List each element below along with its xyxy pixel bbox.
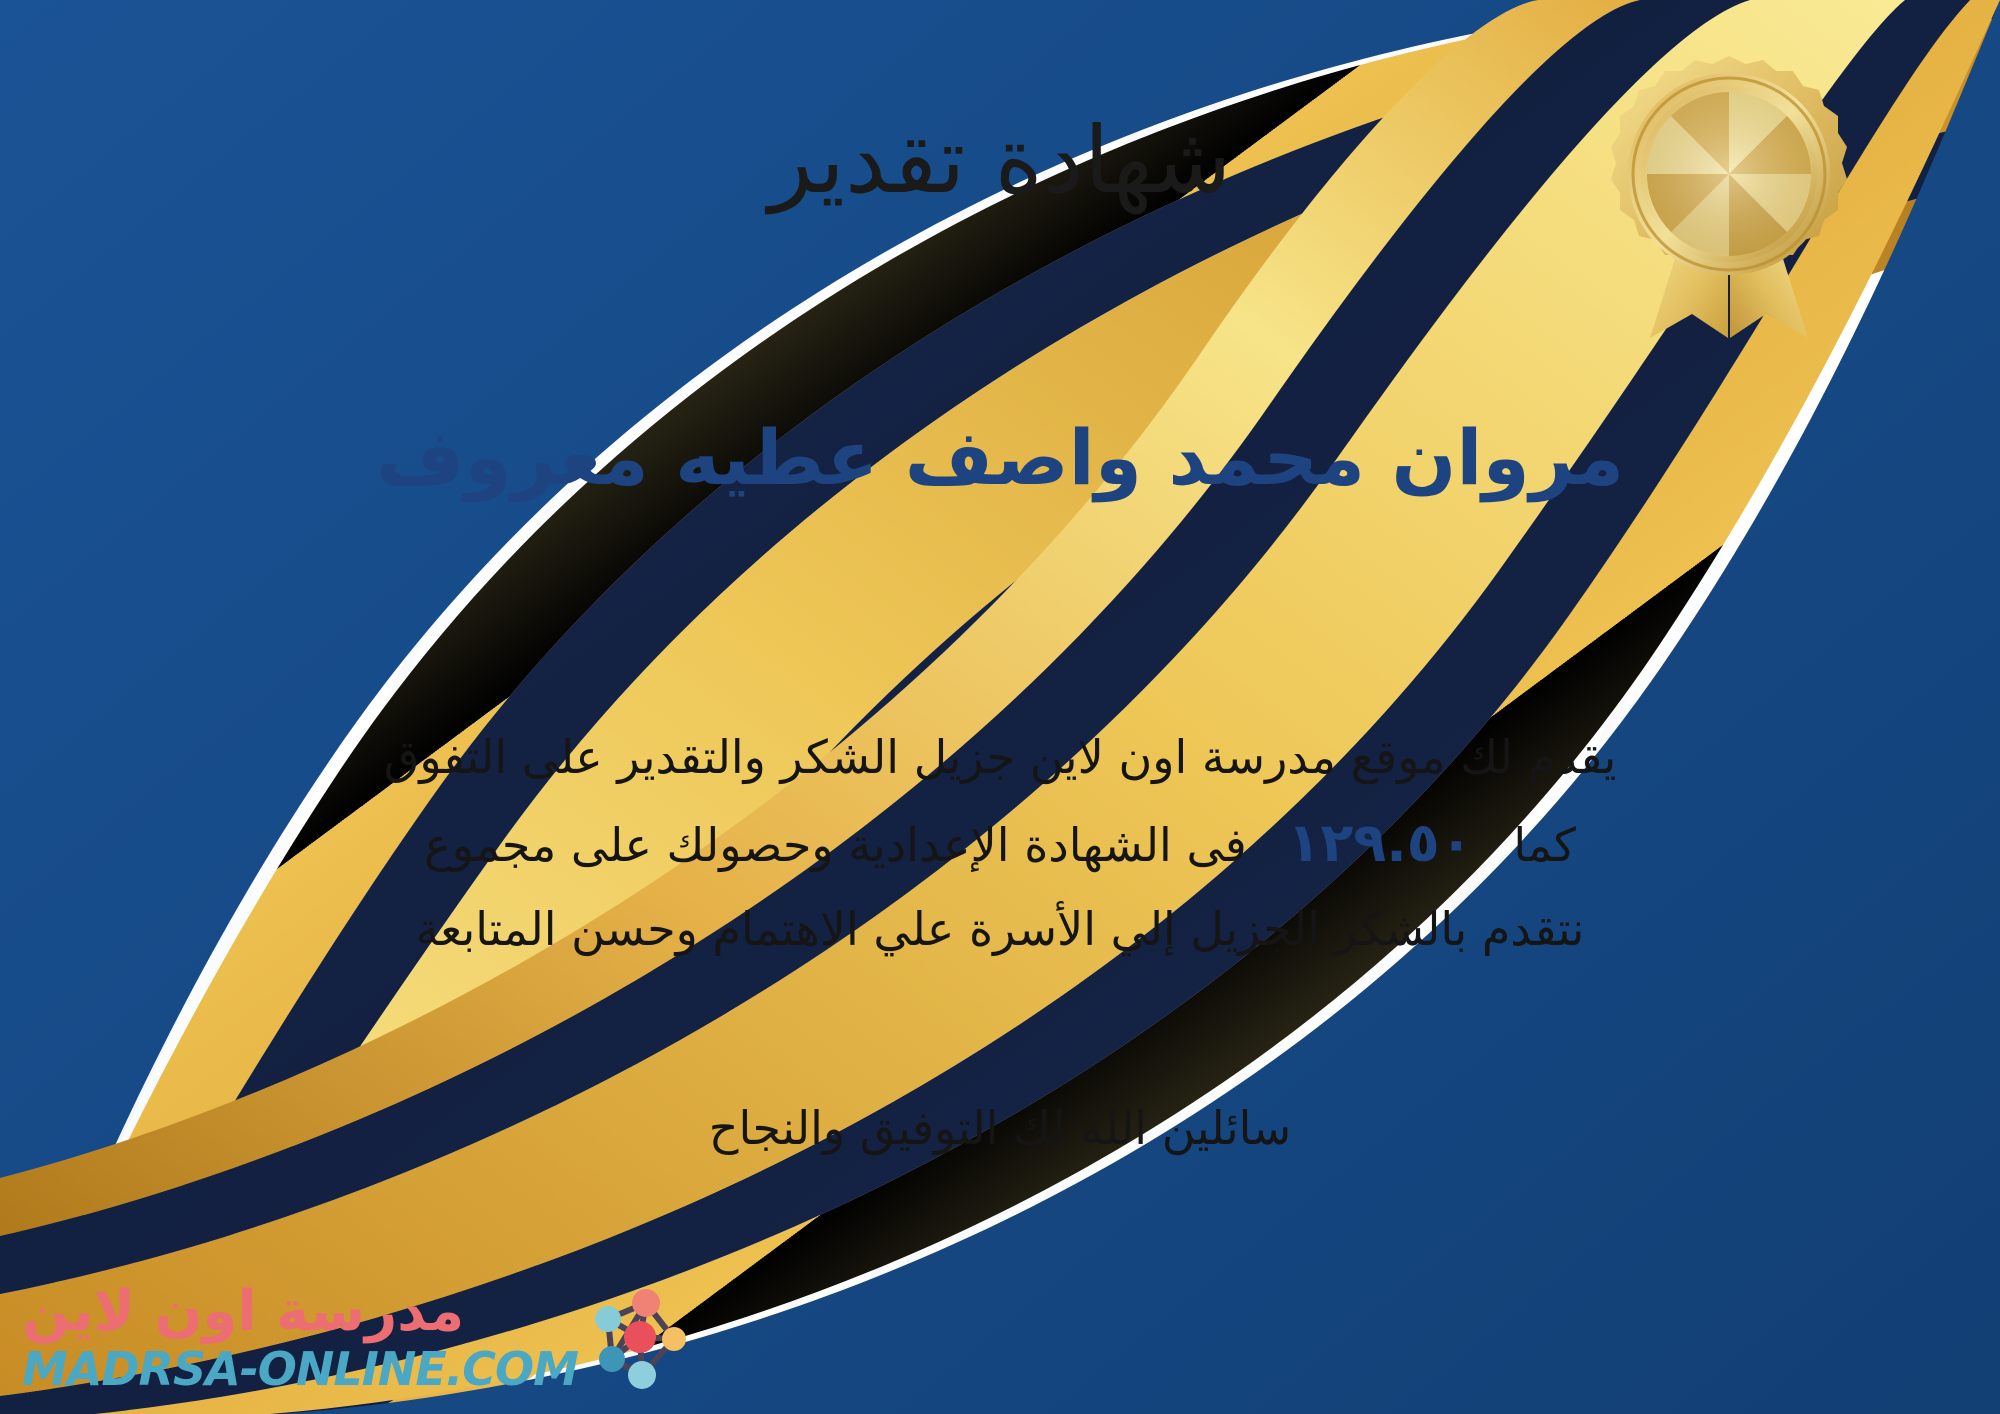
body-line-2-tail: كما <box>1513 818 1576 872</box>
brand-logo[interactable]: مدرسة اون لاين MADRSA-ONLINE.COM <box>22 1284 692 1392</box>
certificate-canvas: شهادة تقدير مروان محمد واصف عطيه معروف ي… <box>0 0 2000 1414</box>
brand-website[interactable]: MADRSA-ONLINE.COM <box>22 1346 578 1392</box>
body-line-2: كما ١٢٩.٥٠ فى الشهادة الإعدادية وحصولك ع… <box>60 797 1940 890</box>
body-line-3: نتقدم بالشكر الجزيل إلي الأسرة علي الاهت… <box>60 890 1940 969</box>
certificate-title: شهادة تقدير <box>0 108 2000 214</box>
total-score-value: ١٢٩.٥٠ <box>1261 811 1498 874</box>
certificate-content: شهادة تقدير مروان محمد واصف عطيه معروف ي… <box>0 0 2000 1414</box>
closing-line: سائلين الله لك التوفيق والنجاح <box>0 1092 2000 1166</box>
body-line-1: يقدم لك موقع مدرسة اون لاين جزيل الشكر و… <box>60 718 1940 797</box>
brand-text: مدرسة اون لاين MADRSA-ONLINE.COM <box>22 1284 578 1392</box>
network-graph-icon <box>588 1285 692 1391</box>
certificate-body: يقدم لك موقع مدرسة اون لاين جزيل الشكر و… <box>60 718 1940 969</box>
body-line-2-head: فى الشهادة الإعدادية وحصولك على مجموع <box>424 818 1247 872</box>
brand-name-arabic: مدرسة اون لاين <box>22 1284 464 1340</box>
student-name: مروان محمد واصف عطيه معروف <box>0 410 2000 505</box>
